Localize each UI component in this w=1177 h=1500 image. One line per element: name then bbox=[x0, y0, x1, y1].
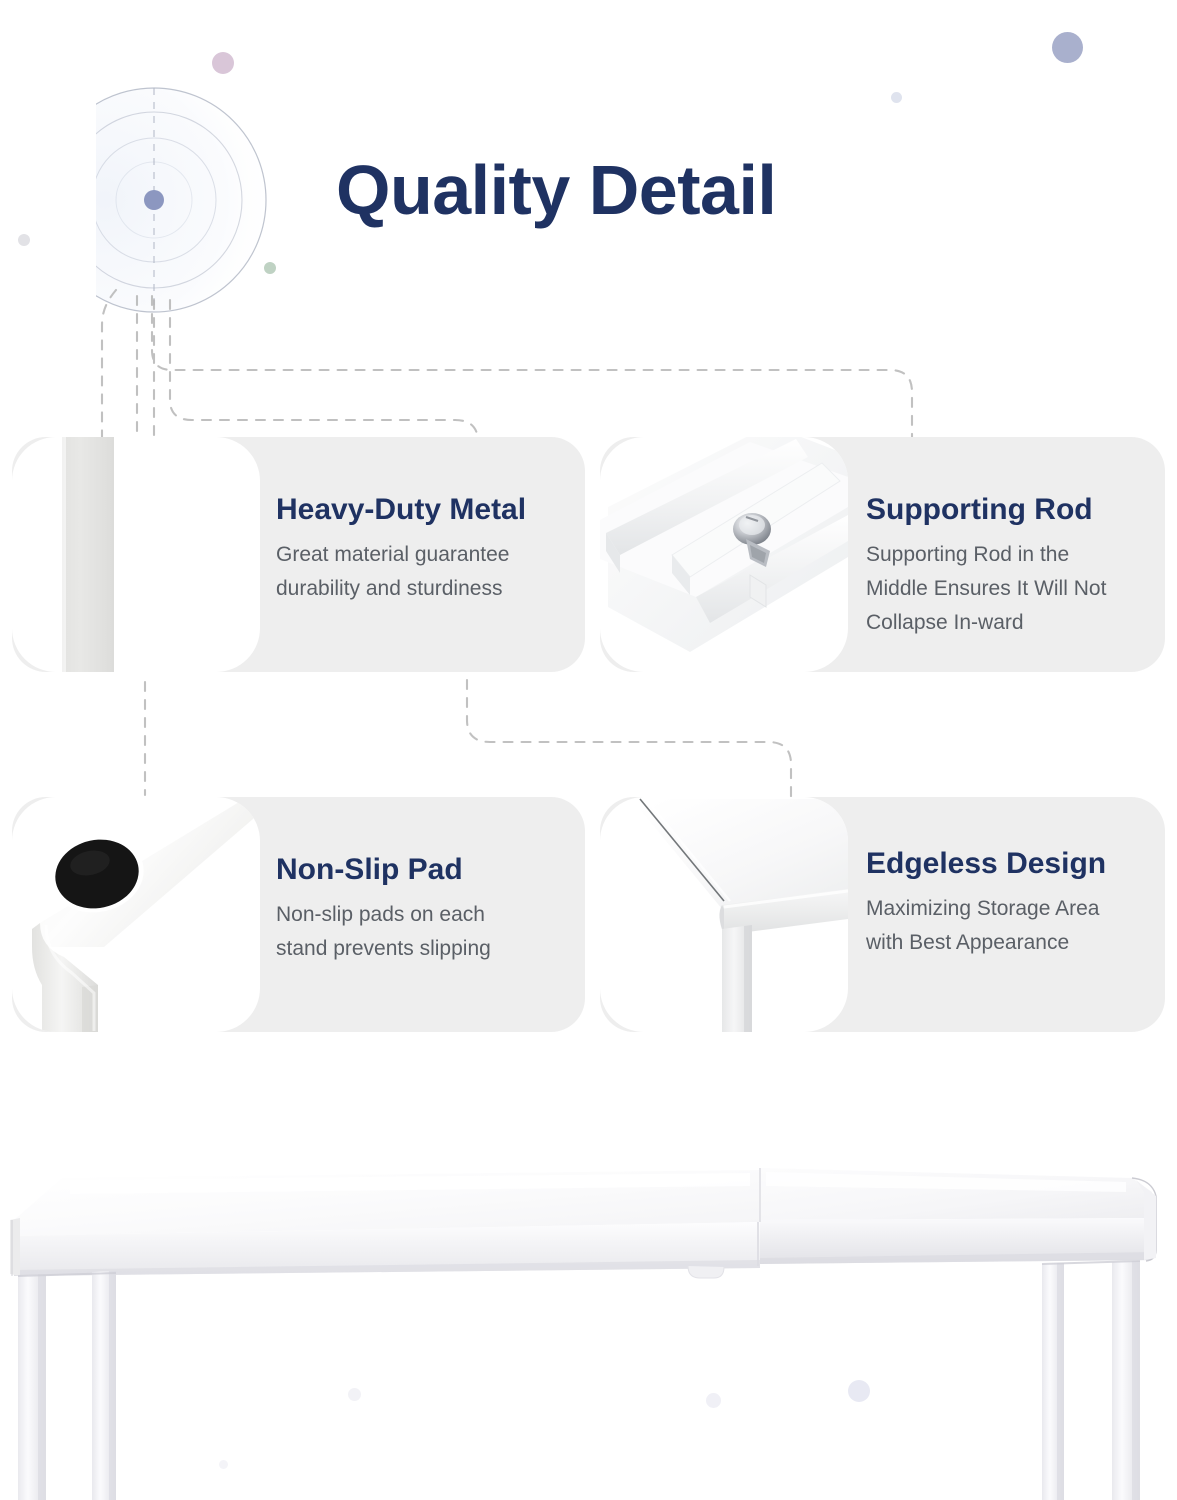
metal-bar-closeup-image bbox=[12, 437, 260, 672]
feature-card-heavy-duty-metal: Heavy-Duty Metal Great material guarante… bbox=[12, 437, 585, 672]
feature-title: Edgeless Design bbox=[866, 847, 1165, 880]
feature-title: Heavy-Duty Metal bbox=[276, 493, 585, 526]
page-title: Quality Detail bbox=[336, 150, 776, 230]
metal-bar-shape bbox=[62, 437, 114, 672]
feature-title: Supporting Rod bbox=[866, 493, 1165, 526]
feature-desc-line: Middle Ensures It Will Not bbox=[866, 572, 1165, 606]
feature-desc-line: with Best Appearance bbox=[866, 926, 1165, 960]
dot-gray-far-left bbox=[18, 234, 30, 246]
feature-card-non-slip-pad: Non-Slip Pad Non-slip pads on each stand… bbox=[12, 797, 585, 1032]
feature-desc-line: Great material guarantee bbox=[276, 538, 585, 572]
supporting-rod-closeup-image bbox=[600, 437, 848, 672]
dot-small-top-right bbox=[891, 92, 902, 103]
feature-desc-line: durability and sturdiness bbox=[276, 572, 585, 606]
quality-detail-infographic: Quality Detail Heavy-Duty Metal bbox=[0, 0, 1177, 1500]
feature-desc-line: Non-slip pads on each bbox=[276, 898, 585, 932]
feature-title: Non-Slip Pad bbox=[276, 853, 585, 886]
feature-desc-line: stand prevents slipping bbox=[276, 932, 585, 966]
hero-dot-2 bbox=[706, 1393, 721, 1408]
feature-card-supporting-rod: Supporting Rod Supporting Rod in the Mid… bbox=[600, 437, 1165, 672]
edgeless-corner-closeup-image bbox=[600, 797, 848, 1032]
hero-dot-4 bbox=[219, 1460, 228, 1469]
expandable-white-shelf-photo bbox=[0, 1100, 1177, 1500]
dot-pink-top-left bbox=[212, 52, 234, 74]
radar-rings-icon bbox=[96, 84, 328, 316]
hero-dot-1 bbox=[348, 1388, 361, 1401]
non-slip-pad-closeup-image bbox=[12, 797, 260, 1032]
feature-desc-line: Supporting Rod in the bbox=[866, 538, 1165, 572]
dot-blue-top-right bbox=[1052, 32, 1083, 63]
feature-desc-line: Collapse In-ward bbox=[866, 606, 1165, 640]
hero-dot-3 bbox=[848, 1380, 870, 1402]
feature-desc-line: Maximizing Storage Area bbox=[866, 892, 1165, 926]
feature-card-edgeless-design: Edgeless Design Maximizing Storage Area … bbox=[600, 797, 1165, 1032]
